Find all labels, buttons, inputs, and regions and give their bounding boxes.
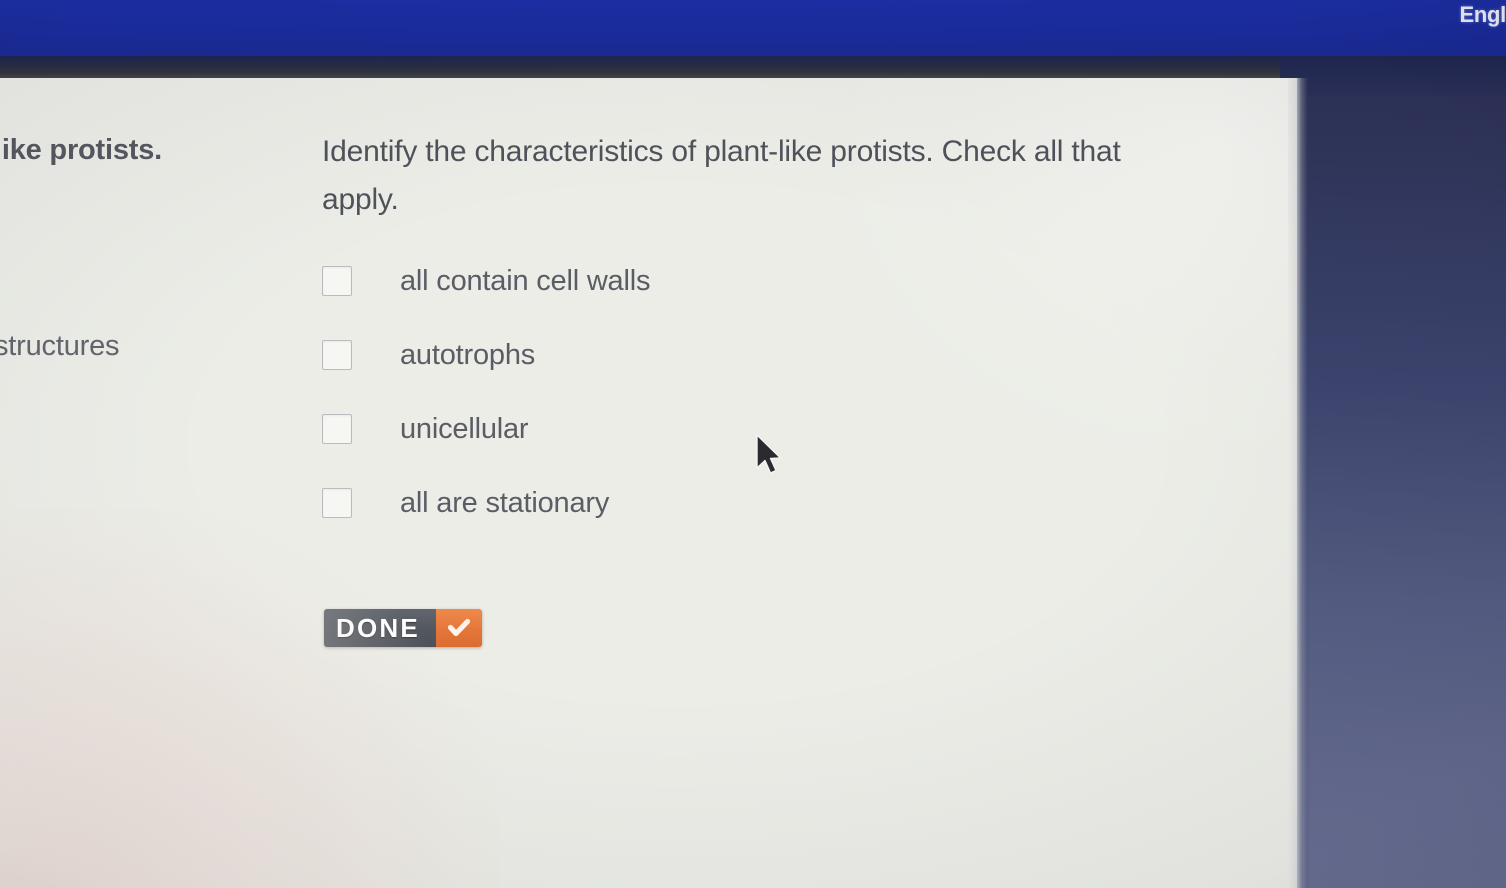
checkbox-icon[interactable] (322, 266, 352, 296)
checkbox-icon[interactable] (322, 340, 352, 370)
quiz-page-panel: like protists. structures Identify the c… (0, 78, 1297, 888)
answer-option-label[interactable]: all contain cell walls (400, 265, 650, 298)
check-icon (446, 615, 472, 641)
done-button[interactable]: DONE (324, 609, 482, 647)
left-text-fragment-2: structures (0, 330, 119, 363)
done-check-badge (436, 609, 482, 647)
answer-option-label[interactable]: autotrophs (400, 339, 535, 372)
answer-option-row[interactable]: unicellular (322, 404, 1182, 454)
checkbox-icon[interactable] (322, 488, 352, 518)
answer-options-list: all contain cell walls autotrophs unicel… (322, 256, 1182, 552)
browser-chrome-bar: Engl (0, 0, 1506, 57)
screen-photo: Engl like protists. structures Identify … (0, 0, 1506, 888)
done-button-label: DONE (324, 609, 436, 647)
left-text-fragment-1: like protists. (0, 134, 162, 167)
answer-option-label[interactable]: all are stationary (400, 487, 609, 520)
answer-option-label[interactable]: unicellular (400, 413, 528, 446)
answer-option-row[interactable]: all are stationary (322, 478, 1182, 528)
question-prompt: Identify the characteristics of plant-li… (322, 128, 1162, 224)
language-label[interactable]: Engl (1460, 2, 1506, 28)
left-clipped-column: like protists. structures (0, 78, 300, 888)
checkbox-icon[interactable] (322, 414, 352, 444)
answer-option-row[interactable]: autotrophs (322, 330, 1182, 380)
question-block: Identify the characteristics of plant-li… (322, 128, 1202, 224)
chrome-shadow-strip-right (1280, 56, 1506, 96)
answer-option-row[interactable]: all contain cell walls (322, 256, 1182, 306)
